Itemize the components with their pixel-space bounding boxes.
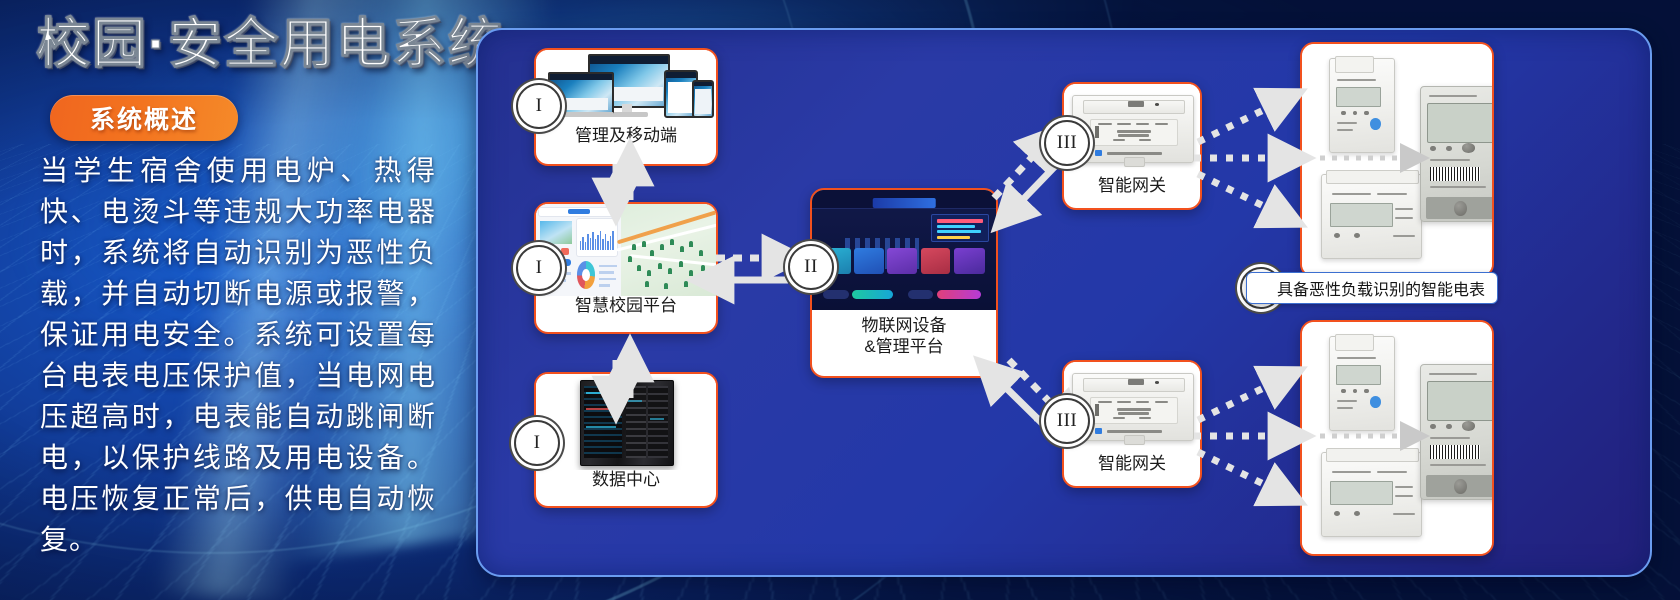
page-title: 校园·安全用电系统	[36, 16, 504, 73]
connector-management-to-campus	[616, 164, 630, 200]
step-badge-5: III	[1044, 120, 1090, 166]
meter-callout-text: 具备恶性负载识别的智能电表	[1277, 276, 1485, 300]
step-badge-1: I	[516, 83, 562, 129]
connector-campus-to-datacenter	[616, 360, 630, 398]
section-badge-label: 系统概述	[90, 100, 198, 136]
system-overview-text: 当学生宿舍使用电炉、热得快、电烫斗等违规大功率电器时，系统将自动识别为恶性负载，…	[40, 150, 436, 560]
step-badge-2: I	[516, 245, 562, 291]
intro-column: 校园·安全用电系统 系统概述 当学生宿舍使用电炉、热得快、电烫斗等违规大功率电器…	[0, 0, 470, 600]
connector-campus-to-iot	[712, 258, 788, 280]
meter-callout-label[interactable]: 具备恶性负载识别的智能电表	[1246, 272, 1498, 304]
section-badge-system-overview: 系统概述	[50, 95, 238, 141]
connector-gateway-top-to-meters	[1194, 100, 1290, 216]
step-badge-6: III	[1044, 398, 1090, 444]
connector-gateway-bottom-to-meters	[1194, 378, 1290, 494]
architecture-diagram-panel: 管理及移动端 I	[476, 28, 1652, 577]
step-badge-3: I	[514, 420, 560, 466]
step-badge-4: II	[788, 244, 834, 290]
